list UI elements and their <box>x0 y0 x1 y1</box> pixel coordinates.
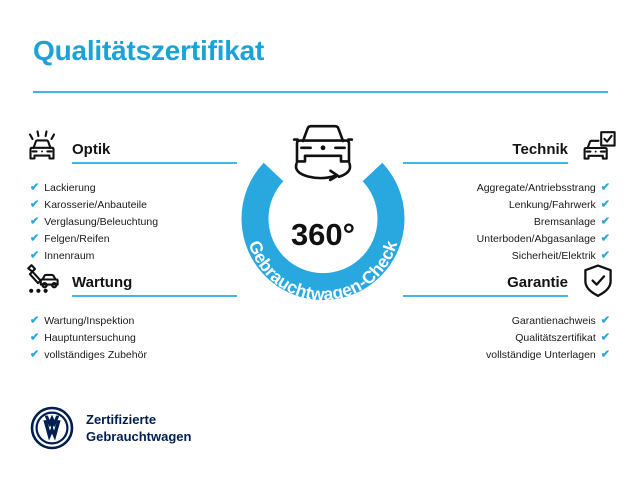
section-technik: Technik ✔ Aggregate/Antriebsstrang ✔ Len… <box>403 128 618 265</box>
list-item-label: Lenkung/Fahrwerk <box>509 197 596 214</box>
section-wartung-title: Wartung <box>72 274 237 292</box>
check-icon: ✔ <box>601 350 610 361</box>
check-icon: ✔ <box>601 251 610 262</box>
section-wartung-header: Wartung <box>22 261 237 305</box>
list-item-label: Wartung/Inspektion <box>44 313 134 330</box>
list-item-label: Lackierung <box>44 180 95 197</box>
list-item: ✔ vollständige Unterlagen <box>403 347 610 364</box>
check-icon: ✔ <box>30 350 39 361</box>
car-front-rotation-icon <box>281 115 365 187</box>
list-item-label: Verglasung/Beleuchtung <box>44 214 158 231</box>
section-optik-title: Optik <box>72 141 237 159</box>
section-wartung-title-wrap: Wartung <box>72 261 237 297</box>
volkswagen-certified-footer: Zertifizierte Gebrauchtwagen <box>30 406 191 450</box>
check-icon: ✔ <box>601 316 610 327</box>
check-icon: ✔ <box>601 217 610 228</box>
list-item: ✔ Qualitätszertifikat <box>403 330 610 347</box>
section-technik-title-wrap: Technik <box>403 128 568 164</box>
list-item-label: Unterboden/Abgasanlage <box>477 231 596 248</box>
check-icon: ✔ <box>30 251 39 262</box>
list-item: ✔ Karosserie/Anbauteile <box>30 197 237 214</box>
list-item-label: Qualitätszertifikat <box>515 330 596 347</box>
check-icon: ✔ <box>30 333 39 344</box>
list-item-label: Karosserie/Anbauteile <box>44 197 147 214</box>
section-technik-divider <box>403 162 568 164</box>
title-divider <box>33 91 608 93</box>
car-checkbox-icon <box>578 128 618 168</box>
check-icon: ✔ <box>30 217 39 228</box>
check-icon: ✔ <box>601 234 610 245</box>
shield-check-icon <box>578 261 618 301</box>
section-garantie-title: Garantie <box>403 274 568 292</box>
footer-line-2: Gebrauchtwagen <box>86 428 191 445</box>
check-icon: ✔ <box>601 200 610 211</box>
list-item-label: Hauptuntersuchung <box>44 330 136 347</box>
list-item: ✔ Lackierung <box>30 180 237 197</box>
section-optik-list: ✔ Lackierung ✔ Karosserie/Anbauteile ✔ V… <box>22 180 237 265</box>
list-item: ✔ Wartung/Inspektion <box>30 313 237 330</box>
page-title: Qualitätszertifikat <box>33 34 264 68</box>
section-wartung-list: ✔ Wartung/Inspektion ✔ Hauptuntersuchung… <box>22 313 237 364</box>
check-icon: ✔ <box>30 316 39 327</box>
list-item: ✔ Garantienachweis <box>403 313 610 330</box>
list-item: ✔ vollständiges Zubehör <box>30 347 237 364</box>
list-item: ✔ Bremsanlage <box>403 214 610 231</box>
section-technik-title: Technik <box>403 141 568 159</box>
section-garantie-header: Garantie <box>403 261 618 305</box>
footer-line-1: Zertifizierte <box>86 411 191 428</box>
list-item: ✔ Verglasung/Beleuchtung <box>30 214 237 231</box>
badge-degrees-label: 360° <box>228 218 418 252</box>
badge-360-gebrauchtwagen-check: Gebrauchtwagen-Check <box>228 115 418 315</box>
list-item-label: Bremsanlage <box>534 214 596 231</box>
list-item-label: Felgen/Reifen <box>44 231 109 248</box>
check-icon: ✔ <box>601 333 610 344</box>
check-icon: ✔ <box>30 234 39 245</box>
section-technik-header: Technik <box>403 128 618 172</box>
volkswagen-logo <box>30 406 74 450</box>
check-icon: ✔ <box>30 183 39 194</box>
check-icon: ✔ <box>30 200 39 211</box>
section-optik-title-wrap: Optik <box>72 128 237 164</box>
quality-certificate-page: Qualitätszertifikat <box>0 0 640 480</box>
car-wrench-icon <box>22 261 62 301</box>
section-optik-header: Optik <box>22 128 237 172</box>
list-item-label: Aggregate/Antriebsstrang <box>477 180 596 197</box>
section-garantie-title-wrap: Garantie <box>403 261 568 297</box>
section-garantie: Garantie ✔ Garantienachweis ✔ Qualitätsz… <box>403 261 618 364</box>
check-icon: ✔ <box>601 183 610 194</box>
list-item: ✔ Aggregate/Antriebsstrang <box>403 180 610 197</box>
list-item-label: vollständiges Zubehör <box>44 347 147 364</box>
footer-text: Zertifizierte Gebrauchtwagen <box>86 411 191 445</box>
list-item: ✔ Hauptuntersuchung <box>30 330 237 347</box>
section-garantie-divider <box>403 295 568 297</box>
car-shine-icon <box>22 128 62 168</box>
list-item-label: vollständige Unterlagen <box>486 347 596 364</box>
list-item: ✔ Felgen/Reifen <box>30 231 237 248</box>
section-wartung: Wartung ✔ Wartung/Inspektion ✔ Hauptunte… <box>22 261 237 364</box>
list-item: ✔ Lenkung/Fahrwerk <box>403 197 610 214</box>
list-item: ✔ Unterboden/Abgasanlage <box>403 231 610 248</box>
section-wartung-divider <box>72 295 237 297</box>
section-optik: Optik ✔ Lackierung ✔ Karosserie/Anbautei… <box>22 128 237 265</box>
list-item-label: Garantienachweis <box>512 313 596 330</box>
section-technik-list: ✔ Aggregate/Antriebsstrang ✔ Lenkung/Fah… <box>403 180 618 265</box>
section-garantie-list: ✔ Garantienachweis ✔ Qualitätszertifikat… <box>403 313 618 364</box>
section-optik-divider <box>72 162 237 164</box>
